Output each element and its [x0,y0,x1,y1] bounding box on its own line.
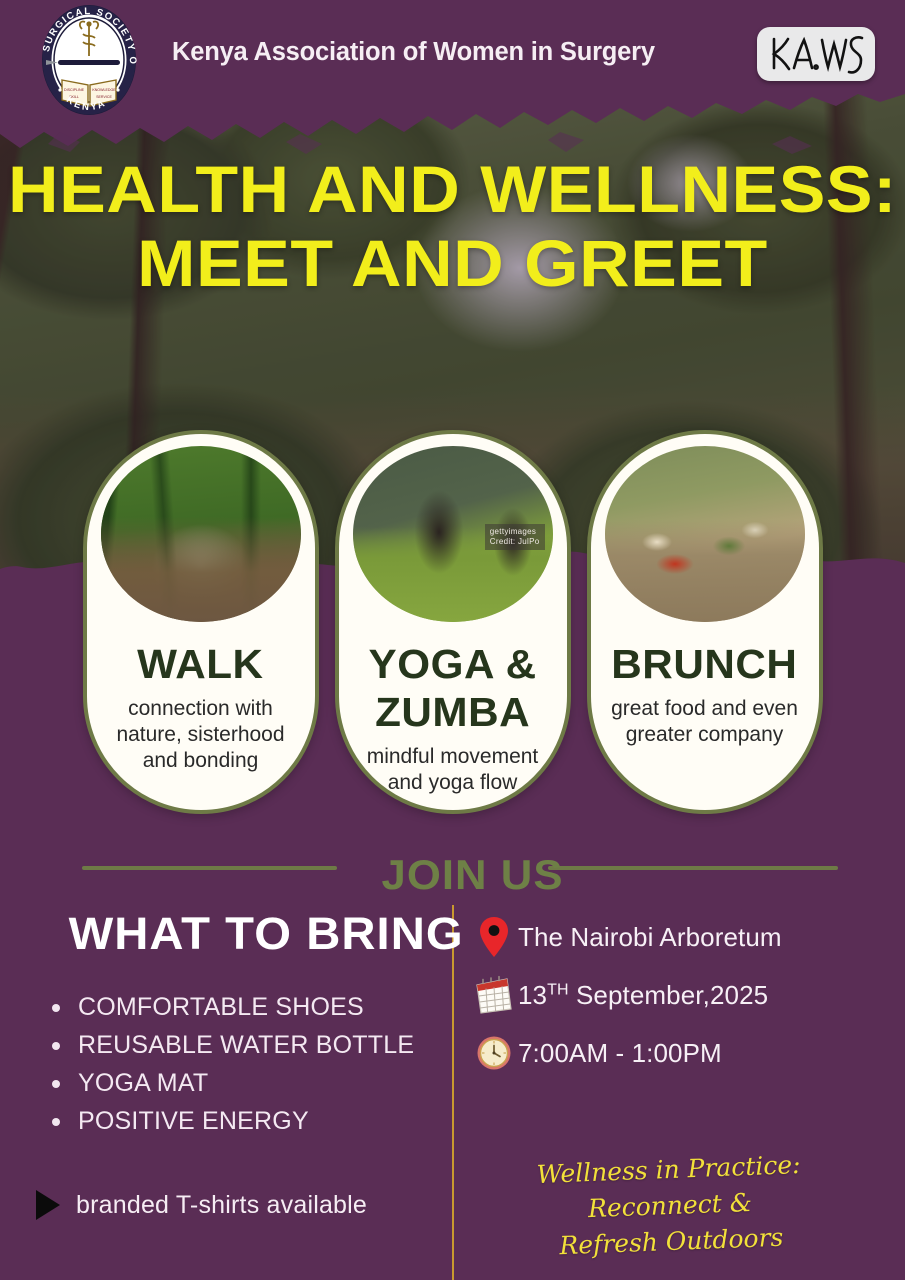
brunch-card-photo [605,446,805,622]
walk-card-title: WALK [137,640,263,688]
list-item: REUSABLE WATER BOTTLE [44,1026,414,1064]
kaws-logo [757,27,875,81]
list-item: YOGA MAT [44,1064,414,1102]
organization-title: Kenya Association of Women in Surgery [172,38,655,67]
walk-card-description: connection with nature, sisterhood and b… [87,696,315,774]
activity-card-brunch[interactable]: BRUNCH great food and even greater compa… [587,430,823,814]
date-ordinal-suffix: TH [547,981,569,998]
detail-location: The Nairobi Arboretum [470,908,782,966]
yoga-card-photo: gettyimages Credit: JulPo [353,446,553,622]
time-label: 7:00AM - 1:00PM [518,1038,722,1069]
location-pin-icon [470,913,518,961]
getty-watermark-line-2: Credit: JulPo [490,537,540,547]
surgical-society-of-kenya-seal-icon: DISCIPLINE SKILL KNOWLEDGE SERVICE SURGI… [30,4,148,116]
bullet-icon [52,1080,60,1088]
bring-item-label: POSITIVE ENERGY [78,1107,309,1135]
getty-watermark-line-1: gettyimages [490,527,540,537]
brunch-card-title: BRUNCH [611,640,797,688]
activity-card-yoga-zumba[interactable]: gettyimages Credit: JulPo YOGA &ZUMBA mi… [335,430,571,814]
calendar-icon [470,971,518,1019]
detail-time: 7:00AM - 1:00PM [470,1024,782,1082]
tshirt-note-row: branded T-shirts available [36,1190,367,1220]
event-tagline: Wellness in Practice: Reconnect & Refres… [468,1144,872,1267]
kaws-wordmark-icon [766,32,866,76]
list-item: COMFORTABLE SHOES [44,988,414,1026]
date-label: 13TH September,2025 [518,980,768,1011]
play-triangle-icon [36,1190,60,1220]
bullet-icon [52,1118,60,1126]
event-details: The Nairobi Arboretum [470,908,782,1082]
date-rest: September,2025 [569,980,769,1010]
bring-item-label: COMFORTABLE SHOES [78,993,364,1021]
activity-cards: WALK connection with nature, sisterhood … [0,430,905,820]
detail-date: 13TH September,2025 [470,966,782,1024]
lower-section: JOIN US WHAT TO BRING COMFORTABLE SHOES … [0,830,905,1280]
yoga-card-title: YOGA &ZUMBA [368,640,536,736]
tagline-line-2: Refresh Outdoors [559,1223,784,1261]
hero-title-line-2: MEET AND GREET [0,226,905,300]
poster-header: DISCIPLINE SKILL KNOWLEDGE SERVICE SURGI… [0,0,905,105]
svg-text:SERVICE: SERVICE [96,95,112,99]
poster-root: HEALTH AND WELLNESS: MEET AND GREET [0,0,905,1280]
bring-item-label: REUSABLE WATER BOTTLE [78,1031,414,1059]
tagline-line-1: Wellness in Practice: Reconnect & [536,1150,801,1223]
walk-card-photo [101,446,301,622]
location-label: The Nairobi Arboretum [518,922,782,953]
svg-text:KNOWLEDGE: KNOWLEDGE [92,88,116,92]
hero-title-line-1: HEALTH AND WELLNESS: [0,152,905,226]
getty-watermark: gettyimages Credit: JulPo [485,524,545,550]
divider-right [548,866,838,870]
yoga-card-description: mindful movement and yoga flow [339,744,567,796]
what-to-bring-list: COMFORTABLE SHOES REUSABLE WATER BOTTLE … [44,988,414,1140]
bullet-icon [52,1004,60,1012]
svg-text:DISCIPLINE: DISCIPLINE [64,88,85,92]
date-day: 13 [518,980,547,1010]
hero-title: HEALTH AND WELLNESS: MEET AND GREET [0,152,905,300]
brunch-card-description: great food and even greater company [591,696,819,748]
tshirt-note-label: branded T-shirts available [76,1191,367,1220]
bring-item-label: YOGA MAT [78,1069,208,1097]
list-item: POSITIVE ENERGY [44,1102,414,1140]
bullet-icon [52,1042,60,1050]
clock-icon [470,1029,518,1077]
vertical-divider [452,905,454,1280]
what-to-bring-heading: WHAT TO BRING [69,908,464,960]
divider-left [82,866,337,870]
activity-card-walk[interactable]: WALK connection with nature, sisterhood … [83,430,319,814]
join-us-heading: JOIN US [381,852,563,898]
